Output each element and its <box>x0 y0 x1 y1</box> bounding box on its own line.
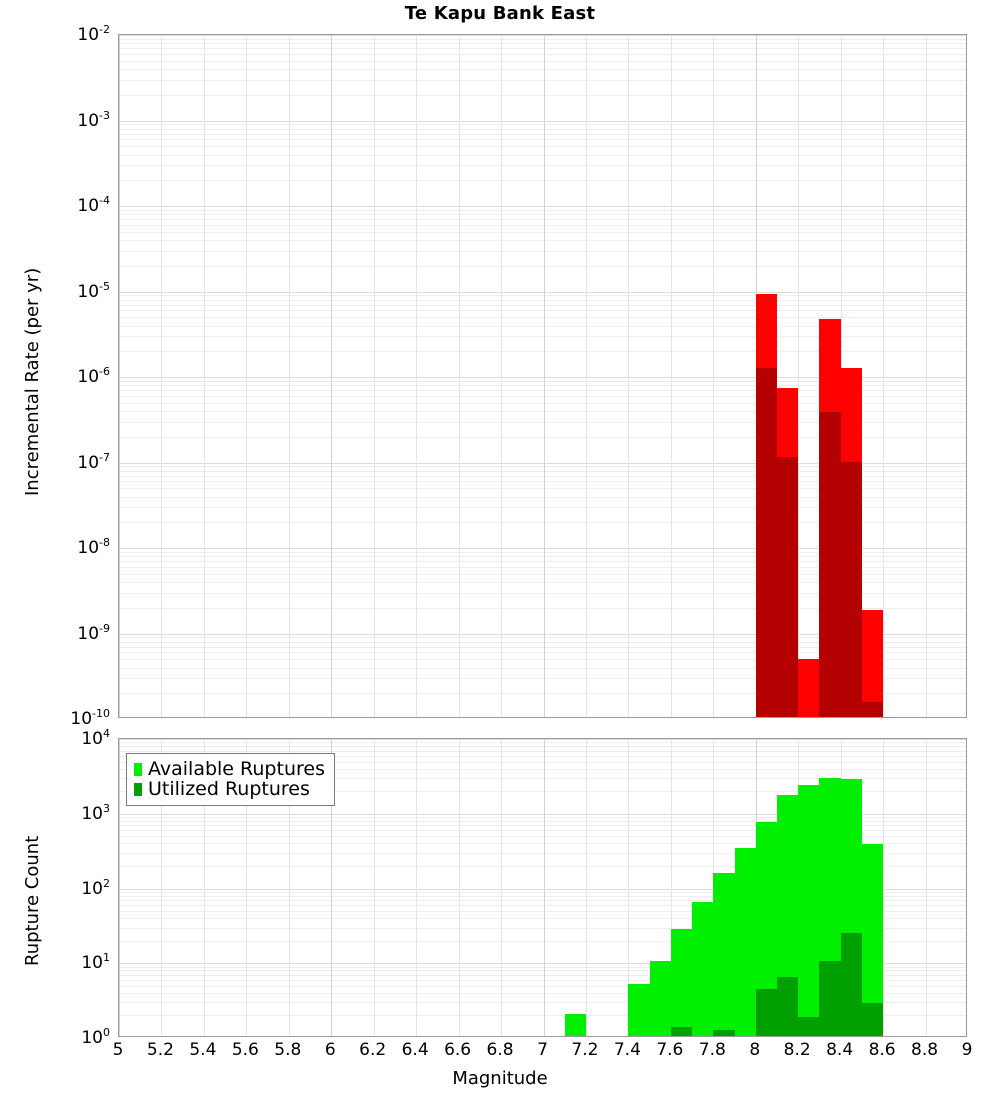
gridline-vertical <box>926 35 927 717</box>
bottom-y-axis-tick: 100 <box>0 1026 110 1048</box>
gridline-vertical <box>331 35 332 717</box>
bar-segment-secondary <box>862 1003 883 1036</box>
bottom-y-axis-label: Rupture Count <box>22 835 43 965</box>
gridline-vertical <box>544 35 545 717</box>
top-y-axis-tick: 10-7 <box>0 451 110 473</box>
bar <box>628 984 649 1036</box>
x-axis-tick: 7.8 <box>699 1040 726 1060</box>
gridline-vertical <box>246 35 247 717</box>
bar <box>650 961 671 1036</box>
x-axis-tick: 5.6 <box>232 1040 259 1060</box>
x-axis-tick: 7.4 <box>614 1040 641 1060</box>
top-y-axis-tick: 10-8 <box>0 536 110 558</box>
bar-segment-secondary <box>862 702 883 717</box>
gridline-vertical <box>586 739 587 1036</box>
x-axis-tick: 7.6 <box>656 1040 683 1060</box>
x-axis-tick: 5.8 <box>274 1040 301 1060</box>
top-y-axis-tick: 10-3 <box>0 109 110 131</box>
legend-swatch-icon <box>134 763 142 776</box>
legend-row: Available Ruptures <box>134 759 325 779</box>
bar-segment-secondary <box>819 412 840 717</box>
x-axis-tick: 5.4 <box>189 1040 216 1060</box>
x-axis-tick: 8.4 <box>826 1040 853 1060</box>
bottom-y-axis-tick: 104 <box>0 727 110 749</box>
top-y-axis-tick: 10-4 <box>0 194 110 216</box>
gridline-vertical <box>798 35 799 717</box>
bar-segment-secondary <box>713 1030 734 1036</box>
bar <box>756 294 777 717</box>
x-axis-tick: 6.4 <box>402 1040 429 1060</box>
bar <box>565 1014 586 1037</box>
bar <box>756 822 777 1036</box>
bar-segment-primary <box>713 873 734 1036</box>
legend-swatch-icon <box>134 783 142 796</box>
x-axis-tick: 6.8 <box>487 1040 514 1060</box>
gridline-vertical <box>544 739 545 1036</box>
gridline-vertical <box>926 739 927 1036</box>
x-axis-label: Magnitude <box>0 1068 1000 1089</box>
gridline-vertical <box>161 35 162 717</box>
top-y-axis-tick: 10-9 <box>0 622 110 644</box>
bar <box>671 929 692 1036</box>
bar-segment-primary <box>650 961 671 1036</box>
x-axis-tick: 7.2 <box>571 1040 598 1060</box>
x-axis-tick: 7 <box>537 1040 548 1060</box>
bar-segment-secondary <box>841 933 862 1036</box>
bar-segment-primary <box>628 984 649 1036</box>
gridline-vertical <box>501 739 502 1036</box>
bar-segment-primary <box>692 902 713 1036</box>
x-axis-tick: 6 <box>325 1040 336 1060</box>
x-axis-tick: 8.2 <box>784 1040 811 1060</box>
bar-segment-secondary <box>798 1017 819 1036</box>
top-y-axis-tick: 10-2 <box>0 23 110 45</box>
bar-segment-secondary <box>756 989 777 1036</box>
gridline-vertical <box>671 35 672 717</box>
legend-row: Utilized Ruptures <box>134 779 325 799</box>
x-axis-tick: 8 <box>749 1040 760 1060</box>
bar <box>777 388 798 717</box>
bar <box>819 319 840 717</box>
x-axis-tick: 8.6 <box>869 1040 896 1060</box>
top-y-axis-tick: 10-5 <box>0 280 110 302</box>
bar <box>841 368 862 717</box>
page-title: Te Kapu Bank East <box>0 3 1000 24</box>
gridline-vertical <box>416 35 417 717</box>
x-axis-tick: 6.6 <box>444 1040 471 1060</box>
bar-segment-primary <box>735 848 756 1036</box>
x-axis-tick: 5.2 <box>147 1040 174 1060</box>
legend-label: Available Ruptures <box>148 759 325 779</box>
x-axis-tick: 8.8 <box>911 1040 938 1060</box>
gridline-vertical <box>416 739 417 1036</box>
gridline-vertical <box>459 35 460 717</box>
bar <box>862 610 883 717</box>
bar-segment-secondary <box>777 457 798 717</box>
gridline-vertical <box>204 35 205 717</box>
gridline-vertical <box>883 739 884 1036</box>
bar <box>819 778 840 1036</box>
gridline-vertical <box>119 739 120 1036</box>
gridline-vertical <box>586 35 587 717</box>
bar-segment-primary <box>862 610 883 717</box>
bar <box>798 785 819 1036</box>
bar-segment-secondary <box>671 1027 692 1036</box>
bar-segment-primary <box>798 659 819 717</box>
gridline-vertical <box>883 35 884 717</box>
x-axis-tick: 6.2 <box>359 1040 386 1060</box>
bottom-legend: Available RupturesUtilized Ruptures <box>126 753 335 806</box>
gridline-vertical <box>119 35 120 717</box>
bar-segment-primary <box>565 1014 586 1037</box>
bar <box>862 844 883 1036</box>
gridline-vertical <box>713 35 714 717</box>
bar-segment-secondary <box>756 368 777 717</box>
gridline-vertical <box>501 35 502 717</box>
bar <box>735 848 756 1036</box>
top-plot-area <box>118 34 967 718</box>
bottom-y-axis-tick: 103 <box>0 802 110 824</box>
bar-segment-secondary <box>819 961 840 1036</box>
gridline-vertical <box>374 35 375 717</box>
bottom-y-axis-tick: 102 <box>0 877 110 899</box>
gridline-vertical <box>459 739 460 1036</box>
bottom-y-axis-tick: 101 <box>0 951 110 973</box>
x-axis-tick: 9 <box>962 1040 973 1060</box>
bar <box>713 873 734 1036</box>
bar <box>841 779 862 1036</box>
legend-label: Utilized Ruptures <box>148 779 310 799</box>
top-y-axis-tick: 10-10 <box>0 707 110 729</box>
bar <box>798 659 819 717</box>
bar <box>777 795 798 1036</box>
bar-segment-primary <box>798 785 819 1036</box>
x-axis-tick: 5 <box>113 1040 124 1060</box>
gridline-vertical <box>289 35 290 717</box>
bar-segment-secondary <box>777 977 798 1036</box>
bar-segment-primary <box>671 929 692 1036</box>
bar-segment-secondary <box>841 462 862 717</box>
gridline-vertical <box>374 739 375 1036</box>
bar <box>692 902 713 1036</box>
top-y-axis-tick: 10-6 <box>0 365 110 387</box>
gridline-vertical <box>628 35 629 717</box>
